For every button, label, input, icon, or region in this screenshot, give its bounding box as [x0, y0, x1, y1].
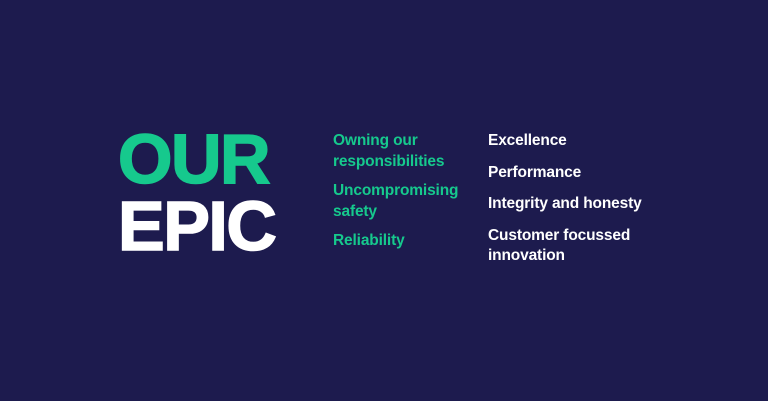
- list-item: Uncompromising safety: [333, 181, 466, 222]
- principles-column: Excellence Performance Integrity and hon…: [488, 131, 688, 278]
- behaviours-column: Owning our responsibilities Uncompromisi…: [333, 131, 466, 252]
- list-item: Reliability: [333, 231, 466, 252]
- values-lists: Owning our responsibilities Uncompromisi…: [333, 131, 688, 278]
- list-item: Customer focussed innovation: [488, 226, 688, 267]
- wordmark-line-epic: EPIC: [118, 193, 318, 260]
- wordmark-line-our: OUR: [118, 126, 318, 193]
- wordmark: OUR EPIC: [118, 126, 318, 260]
- list-item: Performance: [488, 163, 688, 184]
- values-slide: OUR EPIC Owning our responsibilities Unc…: [0, 0, 768, 401]
- list-item: Integrity and honesty: [488, 194, 688, 215]
- list-item: Excellence: [488, 131, 688, 152]
- list-item: Owning our responsibilities: [333, 131, 466, 172]
